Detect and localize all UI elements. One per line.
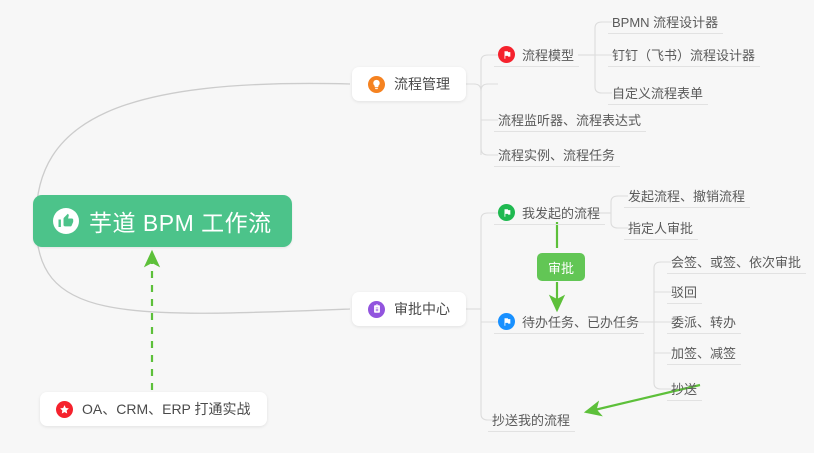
callout-label: 审批 (548, 258, 574, 277)
leaf-label: 流程实例、流程任务 (498, 145, 615, 164)
leaf-my-started-process[interactable]: 我发起的流程 (494, 201, 605, 225)
leaf-label: 流程模型 (522, 45, 574, 64)
leaf-add-remove-sign[interactable]: 加签、减签 (667, 341, 741, 365)
leaf-start-cancel-process[interactable]: 发起流程、撤销流程 (624, 184, 750, 208)
leaf-label: 委派、转办 (671, 312, 736, 331)
leaf-label: 流程监听器、流程表达式 (498, 110, 641, 129)
leaf-label: 会签、或签、依次审批 (671, 252, 801, 271)
clipboard-icon (368, 301, 385, 318)
branch-label: 流程管理 (394, 74, 450, 94)
leaf-assignee-approval[interactable]: 指定人审批 (624, 216, 698, 240)
branch-label: 审批中心 (394, 299, 450, 319)
leaf-label: 自定义流程表单 (612, 83, 703, 102)
leaf-process-listener[interactable]: 流程监听器、流程表达式 (494, 108, 646, 132)
floating-node-label: OA、CRM、ERP 打通实战 (82, 399, 251, 419)
leaf-delegate-transfer[interactable]: 委派、转办 (667, 310, 741, 334)
thumbs-up-icon (53, 208, 79, 234)
leaf-label: 加签、减签 (671, 343, 736, 362)
branch-approval-center[interactable]: 审批中心 (352, 292, 466, 326)
leaf-label: 驳回 (671, 282, 697, 301)
floating-node-integration[interactable]: OA、CRM、ERP 打通实战 (40, 392, 267, 426)
leaf-dingtalk-designer[interactable]: 钉钉（飞书）流程设计器 (608, 43, 760, 67)
leaf-label: 发起流程、撤销流程 (628, 186, 745, 205)
mindmap-canvas: 芋道 BPM 工作流 流程管理 流程模型 BPMN 流程设计器 钉钉（飞书）流程… (0, 0, 814, 453)
leaf-label: 我发起的流程 (522, 203, 600, 222)
flag-icon (498, 46, 515, 63)
flag-icon (498, 204, 515, 221)
leaf-todo-done-tasks[interactable]: 待办任务、已办任务 (494, 310, 644, 334)
flag-icon (498, 313, 515, 330)
leaf-cc-my-process[interactable]: 抄送我的流程 (488, 408, 575, 432)
callout-approval-pill[interactable]: 审批 (537, 253, 585, 281)
leaf-custom-form[interactable]: 自定义流程表单 (608, 81, 708, 105)
leaf-label: 钉钉（飞书）流程设计器 (612, 45, 755, 64)
leaf-label: 抄送我的流程 (492, 410, 570, 429)
root-node[interactable]: 芋道 BPM 工作流 (33, 195, 292, 247)
leaf-cc[interactable]: 抄送 (667, 377, 702, 401)
leaf-countersign[interactable]: 会签、或签、依次审批 (667, 250, 806, 274)
branch-process-management[interactable]: 流程管理 (352, 67, 466, 101)
leaf-label: 指定人审批 (628, 218, 693, 237)
leaf-reject[interactable]: 驳回 (667, 280, 702, 304)
leaf-process-model[interactable]: 流程模型 (494, 43, 579, 67)
root-label: 芋道 BPM 工作流 (89, 204, 272, 238)
leaf-label: BPMN 流程设计器 (612, 12, 718, 31)
leaf-label: 抄送 (671, 379, 697, 398)
leaf-label: 待办任务、已办任务 (522, 312, 639, 331)
leaf-bpmn-designer[interactable]: BPMN 流程设计器 (608, 10, 723, 34)
lightbulb-icon (368, 76, 385, 93)
star-icon (56, 401, 73, 418)
leaf-process-instance[interactable]: 流程实例、流程任务 (494, 143, 620, 167)
